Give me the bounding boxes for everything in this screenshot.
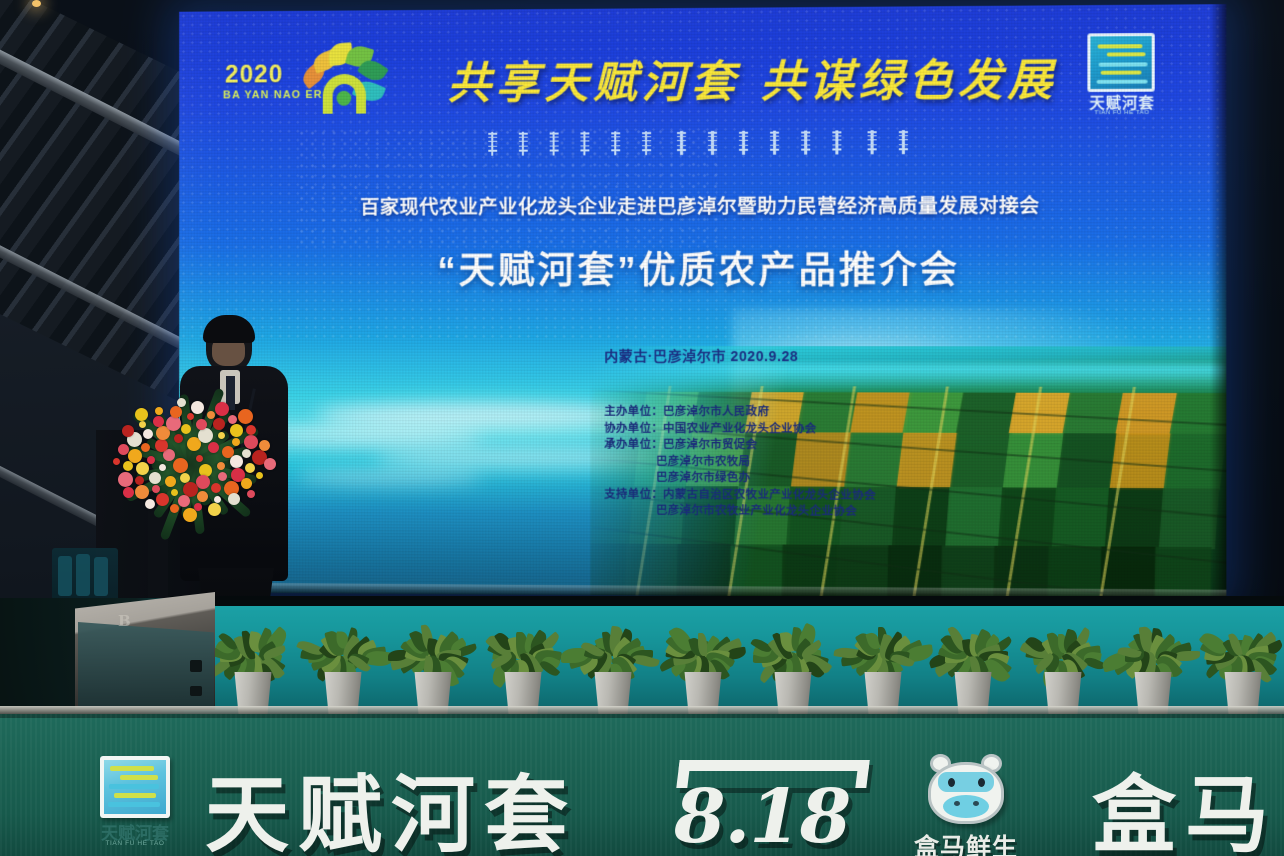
banner-top-edge bbox=[0, 714, 1284, 718]
flower-blossom bbox=[228, 493, 240, 505]
flower-blossom bbox=[135, 476, 144, 485]
potted-plant bbox=[1106, 616, 1198, 716]
flower-blossom bbox=[232, 438, 240, 446]
hippo-eye-right bbox=[978, 778, 985, 787]
potted-plant bbox=[836, 616, 928, 716]
organizer-row: 支持单位：内蒙古自治区农牧业产业化龙头企业协会 bbox=[604, 486, 876, 504]
floral-arrangement bbox=[100, 382, 290, 552]
banner-seal-inner bbox=[104, 760, 166, 814]
flower-blossom bbox=[166, 416, 181, 431]
seal-line bbox=[1107, 52, 1146, 56]
flower-blossom bbox=[242, 449, 251, 458]
flower-blossom bbox=[165, 476, 176, 487]
flower-blossom bbox=[153, 416, 164, 427]
banner-seal-english-text: TIAN FU HE TAO bbox=[100, 840, 170, 847]
hippo-eye-band bbox=[938, 772, 994, 792]
seal-english-text: TIAN FU HE TAO bbox=[1085, 110, 1158, 116]
flower-blossom bbox=[218, 432, 225, 439]
flower-blossom bbox=[241, 478, 252, 489]
banner-brand-seal-logo: 天赋河套 TIAN FU HE TAO bbox=[100, 756, 174, 854]
slide-content: 2020 BA YAN NAO ER 共享天赋河套 共谋绿色发展 bbox=[179, 4, 1226, 600]
campaign-number-text: 8.18 bbox=[674, 774, 850, 856]
flower-blossom bbox=[135, 408, 148, 421]
arch-dot bbox=[337, 91, 352, 106]
flower-blossom bbox=[207, 411, 215, 419]
flower-blossom bbox=[246, 425, 256, 435]
flower-blossom bbox=[113, 458, 120, 465]
hippo-nostril-right bbox=[973, 801, 979, 806]
flower-blossom bbox=[123, 461, 133, 471]
headline-slogan: 共享天赋河套 共谋绿色发展 bbox=[412, 43, 1093, 111]
flower-blossom bbox=[213, 418, 225, 430]
plant-leaf bbox=[698, 633, 707, 656]
monitor-port bbox=[190, 660, 202, 672]
seal-line bbox=[1101, 70, 1142, 74]
flower-blossom bbox=[118, 444, 129, 455]
flower-blossom bbox=[178, 495, 190, 507]
logo-year-text: 2020 bbox=[225, 60, 283, 89]
potted-plant bbox=[476, 616, 568, 716]
potted-plant bbox=[746, 616, 838, 716]
flower-blossom bbox=[238, 409, 253, 424]
mongolian-glyphs bbox=[477, 129, 919, 157]
seal-wave bbox=[108, 802, 160, 807]
flower-blossom bbox=[187, 413, 194, 420]
organizer-row: 巴彦淖尔市绿色办 bbox=[604, 470, 876, 488]
hippo-nostril-left bbox=[954, 801, 960, 806]
mongolian-script-line bbox=[287, 128, 1116, 157]
mascot-label-text: 盒马鲜生 bbox=[898, 828, 1034, 856]
seal-box bbox=[1087, 33, 1154, 92]
flower-blossom bbox=[177, 398, 186, 407]
flower-blossom bbox=[247, 490, 255, 498]
potted-plant bbox=[926, 616, 1018, 716]
banner-campaign-818: 8.18 bbox=[672, 760, 882, 856]
flower-blossom bbox=[159, 464, 166, 471]
flower-blossom bbox=[145, 499, 155, 509]
seal-line bbox=[120, 775, 158, 780]
flower-blossom bbox=[180, 473, 190, 483]
hippo-eye-left bbox=[948, 778, 955, 787]
hippo-muzzle bbox=[943, 795, 989, 818]
flower-blossom bbox=[256, 472, 263, 479]
organizer-list: 主办单位：巴彦淖尔市人民政府协办单位：中国农业产业化龙头企业协会承办单位：巴彦淖… bbox=[604, 404, 876, 521]
stage-monitor-logo: B bbox=[118, 612, 132, 630]
speaker-hair bbox=[203, 315, 255, 343]
flower-blossom bbox=[217, 462, 225, 470]
bottle bbox=[76, 554, 90, 596]
organizer-row: 巴彦淖尔市农牧局 bbox=[604, 453, 876, 471]
flower-blossom bbox=[230, 455, 243, 468]
flower-blossom bbox=[118, 472, 133, 487]
event-year-logo: 2020 BA YAN NAO ER bbox=[223, 42, 380, 122]
potted-plant bbox=[566, 616, 658, 716]
seal-wave bbox=[1099, 62, 1148, 66]
slide-subtitle: 百家现代农业产业化龙头企业走进巴彦淖尔暨助力民营经济高质量发展对接会 bbox=[287, 189, 1116, 220]
flower-blossom bbox=[171, 489, 178, 496]
potted-plant-row bbox=[206, 612, 1284, 716]
potted-plant bbox=[656, 616, 748, 716]
flower-blossom bbox=[196, 419, 207, 430]
sunflower-leaf-icon bbox=[299, 44, 387, 116]
flower-blossom bbox=[155, 407, 163, 415]
potted-plant bbox=[386, 616, 478, 716]
potted-plant bbox=[296, 616, 388, 716]
flower-blossom bbox=[135, 485, 149, 499]
ceiling-light bbox=[32, 0, 41, 7]
seal-wave bbox=[1097, 80, 1148, 84]
seal-wave bbox=[109, 784, 159, 789]
hema-hippo-mascot-icon: 盒马鲜生 bbox=[922, 756, 1010, 830]
bottle bbox=[94, 557, 108, 596]
flower-blossom bbox=[245, 463, 255, 473]
organizer-row: 承办单位：巴彦淖尔市贸促会 bbox=[604, 437, 876, 454]
banner-brand-text: 天赋河套 bbox=[205, 748, 577, 856]
flower-blossom bbox=[208, 503, 221, 516]
potted-plant bbox=[1196, 616, 1284, 716]
flower-blossom bbox=[259, 440, 270, 451]
flower-blossom bbox=[122, 425, 134, 437]
slide-place-and-date: 内蒙古·巴彦淖尔市 2020.9.28 bbox=[604, 346, 798, 366]
flower-blossom bbox=[170, 406, 182, 418]
bottle bbox=[58, 556, 72, 596]
screenshot-root: 2020 BA YAN NAO ER 共享天赋河套 共谋绿色发展 bbox=[0, 0, 1284, 856]
flower-blossom bbox=[155, 439, 168, 452]
banner-partner-text: 盒马 bbox=[1092, 748, 1278, 856]
led-screen: 2020 BA YAN NAO ER 共享天赋河套 共谋绿色发展 bbox=[179, 4, 1226, 600]
monitor-port bbox=[190, 686, 202, 696]
flower-blossom bbox=[264, 458, 276, 470]
organizer-row: 巴彦淖尔市农牧业产业化龙头企业协会 bbox=[604, 503, 876, 521]
flower-blossom bbox=[147, 456, 155, 464]
flower-blossom bbox=[152, 485, 160, 493]
flower-blossom bbox=[139, 421, 146, 428]
flower-blossom bbox=[215, 402, 229, 416]
potted-plant bbox=[1016, 616, 1108, 716]
seal-line bbox=[110, 766, 154, 771]
potted-plant bbox=[206, 616, 298, 716]
flower-blossom bbox=[244, 435, 258, 449]
seal-line bbox=[114, 793, 156, 798]
flower-blossom bbox=[196, 455, 203, 462]
stage-floor-shadow-line bbox=[170, 596, 1284, 606]
seal-line bbox=[1098, 44, 1143, 48]
flower-blossom bbox=[191, 401, 204, 414]
organizer-row: 协办单位：中国农业产业化龙头企业协会 bbox=[604, 420, 876, 437]
slide-main-title: “天赋河套”优质农产品推介会 bbox=[287, 239, 1116, 294]
organizer-row: 主办单位：巴彦淖尔市人民政府 bbox=[604, 404, 876, 421]
brand-seal-logo-screen: 天赋河套 TIAN FU HE TAO bbox=[1081, 33, 1163, 124]
banner-seal-box bbox=[100, 756, 170, 818]
flower-blossom bbox=[228, 415, 237, 424]
